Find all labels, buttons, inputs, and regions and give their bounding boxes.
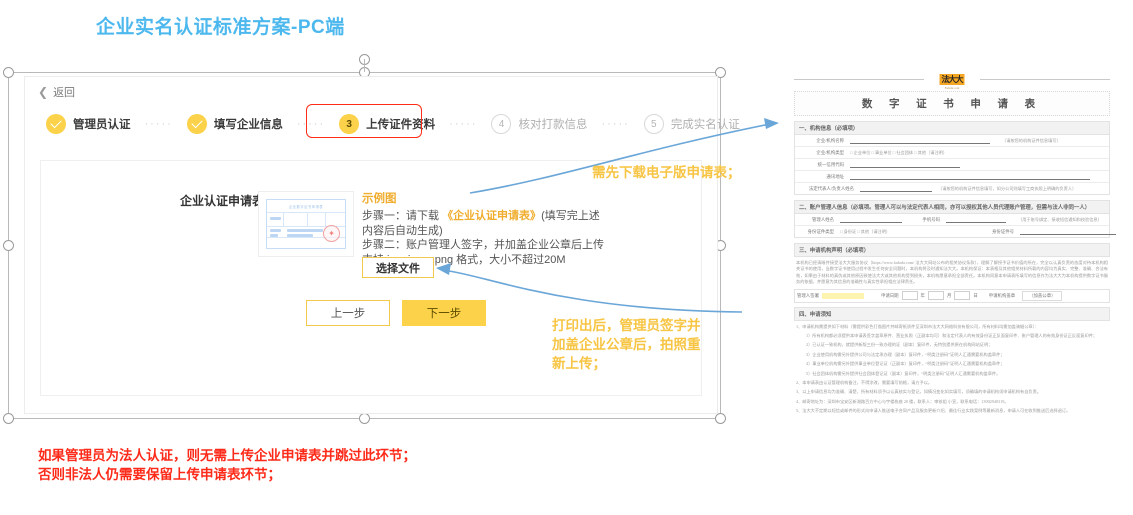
row-note: （请按您的机构证件信息填写）: [999, 137, 1109, 145]
row-value[interactable]: [837, 214, 913, 225]
row-label: 统一信用代码: [795, 161, 847, 169]
notice-2: 2）已认证一致机构，就提供新版三份一致办理的证（副本）复印件，无特别提供原在机构…: [806, 342, 1108, 348]
sign-label-manager: 管理人签署: [797, 293, 819, 299]
row-note: （用于账号绑定、接收短信通知和校验信息）: [1015, 216, 1118, 224]
signature-highlight-field[interactable]: [822, 293, 864, 299]
step-item-2[interactable]: 填写企业信息: [187, 114, 283, 134]
stepper: 管理员认证 ····· 填写企业信息 ····· 3 上传证件资料 ····· …: [46, 110, 686, 138]
row-label-2: 身份证件号: [979, 228, 1017, 236]
row-label: 企业/机构名称: [795, 137, 847, 145]
step-4-bubble: 4: [491, 114, 511, 134]
step-connector-3: ·····: [449, 118, 477, 130]
step-2-bubble: [187, 114, 207, 134]
document-section-4-heading: 四、申请须知: [794, 307, 1110, 321]
sample-thumbnail-graphic: 企业数字证书申请表 ✦: [266, 199, 346, 249]
row-label: 法定代表人/负责人姓名: [795, 185, 857, 193]
annotation-download-form: 需先下载电子版申请表；: [592, 163, 741, 182]
date-month-field[interactable]: [928, 291, 944, 300]
page-title: 企业实名认证标准方案-PC端: [96, 12, 345, 39]
step-item-3[interactable]: 3 上传证件资料: [339, 114, 435, 134]
row-label: 管理人姓名: [795, 216, 837, 224]
step-connector-1: ·····: [145, 118, 173, 130]
document-signature-row: 管理人签署 申请日期 年 月 日 申请机构盖章 （加盖公章）: [794, 289, 1110, 303]
back-button[interactable]: ❮ 返回: [38, 84, 75, 100]
table-row: 企业/机构类型 □ 企业单位 □ 事业单位 □ 社会团体 □ 其他（请注明）: [795, 147, 1109, 159]
row-value[interactable]: [857, 183, 935, 194]
step-one-suffix: (填写完上述: [541, 210, 600, 222]
step-item-4[interactable]: 4 核对打款信息: [491, 114, 587, 134]
next-step-button[interactable]: 下一步: [402, 300, 486, 326]
thumbnail-caption: 企业数字证书申请表: [267, 204, 345, 209]
notice-7: 3、以上申请信息均为准确、清楚，所有材料须予以认真核实与登记，如情况变化如实填写…: [796, 389, 1108, 395]
application-form-link[interactable]: 《企业认证申请表》: [442, 210, 541, 222]
date-month-unit: 月: [947, 293, 951, 299]
row-value[interactable]: [847, 171, 1109, 182]
row-value[interactable]: [847, 159, 1109, 170]
company-seal-icon: ✦: [323, 225, 340, 242]
notice-8: 4、邮寄地址为：深圳市宝安区新湖路百方中心与宇楼栋座 20 楼，联系人：审核组 …: [796, 399, 1108, 405]
date-day-field[interactable]: [954, 291, 970, 300]
instructions-title: 示例图: [362, 190, 662, 206]
fadada-logo: 法大大 Fadada.com: [940, 69, 965, 90]
step-1-bubble: [46, 114, 66, 134]
upload-instructions: 示例图 步骤一：请下载 《企业认证申请表》(填写完上述 内容后自动生成) 步骤二…: [362, 190, 662, 267]
date-year-field[interactable]: [902, 291, 918, 300]
step-1-label: 管理员认证: [73, 116, 131, 132]
annotation-legal-person-note: 如果管理员为法人认证，则无需上传企业申请表并跳过此环节； 否则非法人仍需要保留上…: [38, 446, 416, 484]
instructions-step-one-cont: 内容后自动生成): [362, 224, 662, 239]
row-value-2[interactable]: [1017, 226, 1118, 237]
check-icon: [191, 117, 202, 128]
step-item-1[interactable]: 管理员认证: [46, 114, 131, 134]
notice-0: 1、申请机构需提供如下材料（需提供彩色打描图片并邮寄纸质件至深圳市法大大网络科技…: [796, 324, 1108, 330]
document-section-1-heading: 一、机构信息（必填项）: [794, 121, 1110, 135]
step-5-label: 完成实名认证: [671, 116, 740, 132]
step-4-label: 核对打款信息: [518, 116, 587, 132]
choose-file-button[interactable]: 选择文件: [362, 257, 434, 278]
check-icon: [50, 117, 61, 128]
step-2-label: 填写企业信息: [214, 116, 283, 132]
table-row: 通讯地址: [795, 171, 1109, 183]
chevron-left-icon: ❮: [38, 85, 48, 99]
instructions-step-two: 步骤二：账户管理人签字，并加盖企业公章后上传: [362, 238, 662, 253]
row-note: （请按您的机构证件信息填写，如分公司则填写工商执照上明确的负责人）: [935, 185, 1118, 193]
document-section-2-table: 管理人姓名 手机号码 （用于账号绑定、接收短信通知和校验信息） 身份证件类型 □…: [794, 214, 1110, 238]
logo-mark: 法大大: [940, 74, 965, 85]
step-5-bubble: 5: [644, 114, 664, 134]
application-form-document: 法大大 Fadada.com 数 字 证 书 申 请 表 一、机构信息（必填项）…: [786, 66, 1118, 508]
row-label: 企业/机构类型: [795, 149, 847, 157]
notice-5: 5）社会团体机构需另外提供社会团体登记证（副本）复印件，“明类注册码”证明人汇通…: [806, 371, 1108, 377]
selection-rotate-stem: [364, 59, 365, 72]
row-value[interactable]: □ 企业单位 □ 事业单位 □ 社会团体 □ 其他（请注明）: [847, 149, 1109, 157]
step-one-prefix: 步骤一：请下载: [362, 210, 442, 222]
row-value[interactable]: □ 身份证 □ 其他（请注明）: [837, 228, 979, 236]
step-item-5[interactable]: 5 完成实名认证: [644, 114, 740, 134]
row-label: 通讯地址: [795, 173, 847, 181]
selection-handle-bottom-right[interactable]: [715, 413, 726, 424]
document-section-3-heading: 三、申请机构声明（必填项）: [794, 243, 1110, 257]
sample-thumbnail[interactable]: 企业数字证书申请表 ✦: [258, 191, 354, 257]
table-row: 法定代表人/负责人姓名 （请按您的机构证件信息填写，如分公司则填写工商执照上明确…: [795, 183, 1109, 194]
selection-handle-bottom-center[interactable]: [359, 413, 370, 424]
previous-step-button[interactable]: 上一步: [306, 300, 390, 326]
document-section-1-table: 企业/机构名称 （请按您的机构证件信息填写） 企业/机构类型 □ 企业单位 □ …: [794, 135, 1110, 195]
table-row: 企业/机构名称 （请按您的机构证件信息填写）: [795, 135, 1109, 147]
document-logo-rule: 法大大 Fadada.com: [794, 68, 1110, 90]
document-section-3-body: 本机构已经清晰并接受法大大服务协议（https://www.fadada.com…: [796, 260, 1108, 286]
selection-handle-top-left[interactable]: [3, 67, 14, 78]
row-label: 身份证件类型: [795, 228, 837, 236]
sign-label-date: 申请日期: [881, 293, 899, 299]
step-connector-4: ·····: [601, 118, 629, 130]
back-label: 返回: [53, 84, 75, 100]
instructions-step-one: 步骤一：请下载 《企业认证申请表》(填写完上述: [362, 209, 662, 224]
document-section-2-heading: 二、账户管理人信息（必填项。管理人可以与法定代表人相同，亦可以授权其他人员代理账…: [794, 200, 1110, 214]
table-row: 身份证件类型 □ 身份证 □ 其他（请注明） 身份证件号: [795, 226, 1109, 237]
step-3-label: 上传证件资料: [366, 116, 435, 132]
sign-label-stamp: 申请机构盖章: [989, 293, 1015, 299]
annotation-print-and-sign: 打印出后，管理员签字并 加盖企业公章后，拍照重 新上传；: [552, 316, 701, 373]
selection-handle-bottom-left[interactable]: [3, 413, 14, 424]
table-row: 统一信用代码: [795, 159, 1109, 171]
step-3-bubble: 3: [339, 114, 359, 134]
notice-9: 5、法大大不定期以短信或邮件的形式向申请人推送电子合同产品及服务更新介绍、最佳行…: [796, 408, 1108, 414]
selection-handle-middle-left[interactable]: [3, 240, 14, 251]
date-year-unit: 年: [921, 293, 925, 299]
step-connector-2: ·····: [297, 118, 325, 130]
notice-4: 4）事业单位机构需另外提供事业单位登记证（正副本）复印件，“明类注册码”证明人汇…: [806, 361, 1108, 367]
row-value-2[interactable]: [943, 214, 1015, 225]
application-form-field-label: 企业认证申请表: [180, 192, 264, 209]
notice-6: 2、本申请表由认证管理机构备注，不得涂改，需要填写前格，请方予以。: [796, 380, 1108, 386]
table-row: 管理人姓名 手机号码 （用于账号绑定、接收短信通知和校验信息）: [795, 214, 1109, 226]
stamp-placeholder[interactable]: （加盖公章）: [1022, 291, 1062, 301]
notice-1: 1）所有机构都必须提供本申请表签字盖章原件、营业执照（正副本均可）和法定代表人的…: [806, 333, 1108, 339]
row-value[interactable]: [847, 135, 999, 146]
document-title: 数 字 证 书 申 请 表: [794, 91, 1110, 116]
logo-subtext: Fadada.com: [940, 87, 965, 90]
row-label-2: 手机号码: [913, 216, 943, 224]
notice-3: 3）企业使用机构需另外提供公司与法定承办理（副本）复印件，“明类注册码”证明人汇…: [806, 352, 1108, 358]
date-day-unit: 日: [973, 293, 977, 299]
